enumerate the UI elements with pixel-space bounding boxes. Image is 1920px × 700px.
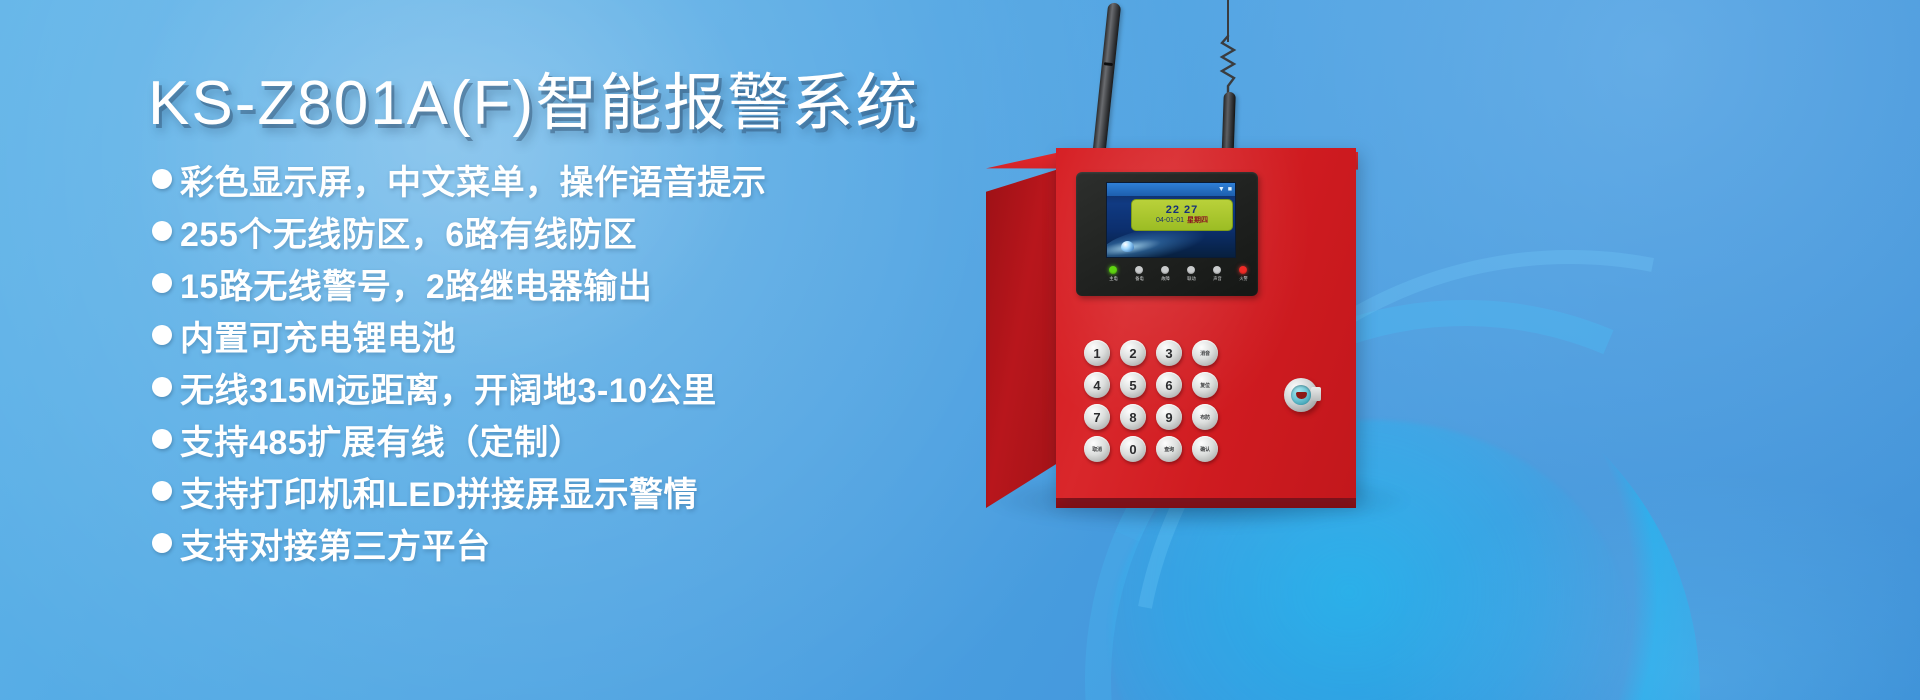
key-2[interactable]: 2 bbox=[1120, 340, 1146, 366]
page-title: KS-Z801A(F)智能报警系统 bbox=[148, 52, 919, 142]
indicator-fire-alarm: 火警 bbox=[1232, 266, 1254, 281]
key-1[interactable]: 1 bbox=[1084, 340, 1110, 366]
feature-list: 彩色显示屏，中文菜单，操作语音提示 255个无线防区，6路有线防区 15路无线警… bbox=[152, 155, 767, 571]
key-query[interactable]: 查询 bbox=[1156, 436, 1182, 462]
indicator-linkage: 联动 bbox=[1180, 266, 1202, 281]
display-bezel: ▼ ■ 22 27 04-01-01 星期四 bbox=[1076, 172, 1258, 296]
indicator-label: 故障 bbox=[1161, 276, 1170, 281]
bullet-icon bbox=[152, 169, 172, 189]
feature-text: 内置可充电锂电池 bbox=[180, 311, 456, 360]
lcd-weekday: 星期四 bbox=[1187, 216, 1208, 225]
bullet-icon bbox=[152, 325, 172, 345]
bullet-icon bbox=[152, 429, 172, 449]
feature-text: 彩色显示屏，中文菜单，操作语音提示 bbox=[180, 155, 767, 204]
indicator-label: 主电 bbox=[1109, 276, 1118, 281]
banner-content: KS-Z801A(F)智能报警系统 彩色显示屏，中文菜单，操作语音提示 255个… bbox=[0, 0, 960, 700]
key-lock-icon[interactable] bbox=[1284, 378, 1318, 412]
led-icon bbox=[1187, 266, 1195, 274]
list-item: 彩色显示屏，中文菜单，操作语音提示 bbox=[152, 155, 767, 203]
lcd-status-bar: ▼ ■ bbox=[1107, 183, 1235, 196]
lcd-date-row: 04-01-01 星期四 bbox=[1156, 216, 1208, 225]
indicator-sound: 声音 bbox=[1206, 266, 1228, 281]
lcd-wallpaper-droplet bbox=[1121, 241, 1134, 252]
feature-text: 支持对接第三方平台 bbox=[180, 519, 491, 568]
feature-text: 15路无线警号，2路继电器输出 bbox=[180, 259, 652, 308]
keypad[interactable]: 1 2 3 消音 4 5 6 复位 7 8 9 布防 取消 0 查询 确认 bbox=[1080, 338, 1222, 464]
list-item: 无线315M远距离，开阔地3-10公里 bbox=[152, 363, 767, 411]
led-icon bbox=[1213, 266, 1221, 274]
enclosure-front-face: ▼ ■ 22 27 04-01-01 星期四 bbox=[1056, 148, 1356, 498]
list-item: 15路无线警号，2路继电器输出 bbox=[152, 259, 767, 307]
key-3[interactable]: 3 bbox=[1156, 340, 1182, 366]
feature-text: 255个无线防区，6路有线防区 bbox=[180, 207, 637, 256]
product-banner: KS-Z801A(F)智能报警系统 彩色显示屏，中文菜单，操作语音提示 255个… bbox=[0, 0, 1920, 700]
bullet-icon bbox=[152, 377, 172, 397]
key-5[interactable]: 5 bbox=[1120, 372, 1146, 398]
key-arm[interactable]: 布防 bbox=[1192, 404, 1218, 430]
bullet-icon bbox=[152, 481, 172, 501]
indicator-backup-power: 备电 bbox=[1128, 266, 1150, 281]
feature-text: 支持485扩展有线（定制） bbox=[180, 415, 583, 464]
antenna-coil-icon bbox=[1218, 34, 1238, 96]
key-silence[interactable]: 消音 bbox=[1192, 340, 1218, 366]
indicator-fault: 故障 bbox=[1154, 266, 1176, 281]
battery-icon: ■ bbox=[1228, 186, 1232, 193]
list-item: 支持对接第三方平台 bbox=[152, 519, 767, 567]
bullet-icon bbox=[152, 221, 172, 241]
indicator-row: 主电 备电 故障 联动 bbox=[1102, 266, 1254, 281]
key-6[interactable]: 6 bbox=[1156, 372, 1182, 398]
key-7[interactable]: 7 bbox=[1084, 404, 1110, 430]
list-item: 支持485扩展有线（定制） bbox=[152, 415, 767, 463]
key-reset[interactable]: 复位 bbox=[1192, 372, 1218, 398]
key-9[interactable]: 9 bbox=[1156, 404, 1182, 430]
key-4[interactable]: 4 bbox=[1084, 372, 1110, 398]
indicator-label: 声音 bbox=[1213, 276, 1222, 281]
list-item: 255个无线防区，6路有线防区 bbox=[152, 207, 767, 255]
indicator-label: 备电 bbox=[1135, 276, 1144, 281]
lock-core bbox=[1291, 385, 1311, 405]
led-icon bbox=[1135, 266, 1143, 274]
indicator-main-power: 主电 bbox=[1102, 266, 1124, 281]
list-item: 支持打印机和LED拼接屏显示警情 bbox=[152, 467, 767, 515]
lcd-screen: ▼ ■ 22 27 04-01-01 星期四 bbox=[1106, 182, 1236, 258]
bullet-icon bbox=[152, 533, 172, 553]
enclosure-side bbox=[986, 168, 1062, 508]
signal-icon: ▼ bbox=[1218, 186, 1225, 193]
feature-text: 支持打印机和LED拼接屏显示警情 bbox=[180, 467, 698, 516]
bullet-icon bbox=[152, 273, 172, 293]
key-0[interactable]: 0 bbox=[1120, 436, 1146, 462]
key-confirm[interactable]: 确认 bbox=[1192, 436, 1218, 462]
indicator-label: 联动 bbox=[1187, 276, 1196, 281]
key-cancel[interactable]: 取消 bbox=[1084, 436, 1110, 462]
led-icon bbox=[1161, 266, 1169, 274]
lcd-date: 04-01-01 bbox=[1156, 216, 1184, 225]
list-item: 内置可充电锂电池 bbox=[152, 311, 767, 359]
product-image: ▼ ■ 22 27 04-01-01 星期四 bbox=[930, 0, 1920, 700]
indicator-label: 火警 bbox=[1239, 276, 1248, 281]
key-8[interactable]: 8 bbox=[1120, 404, 1146, 430]
led-icon bbox=[1109, 266, 1117, 274]
lock-keyhole bbox=[1296, 392, 1307, 399]
lock-tab bbox=[1311, 387, 1321, 401]
led-icon bbox=[1239, 266, 1247, 274]
lcd-time: 22 27 bbox=[1166, 205, 1199, 216]
feature-text: 无线315M远距离，开阔地3-10公里 bbox=[180, 363, 717, 412]
lcd-clock-widget: 22 27 04-01-01 星期四 bbox=[1131, 199, 1233, 231]
